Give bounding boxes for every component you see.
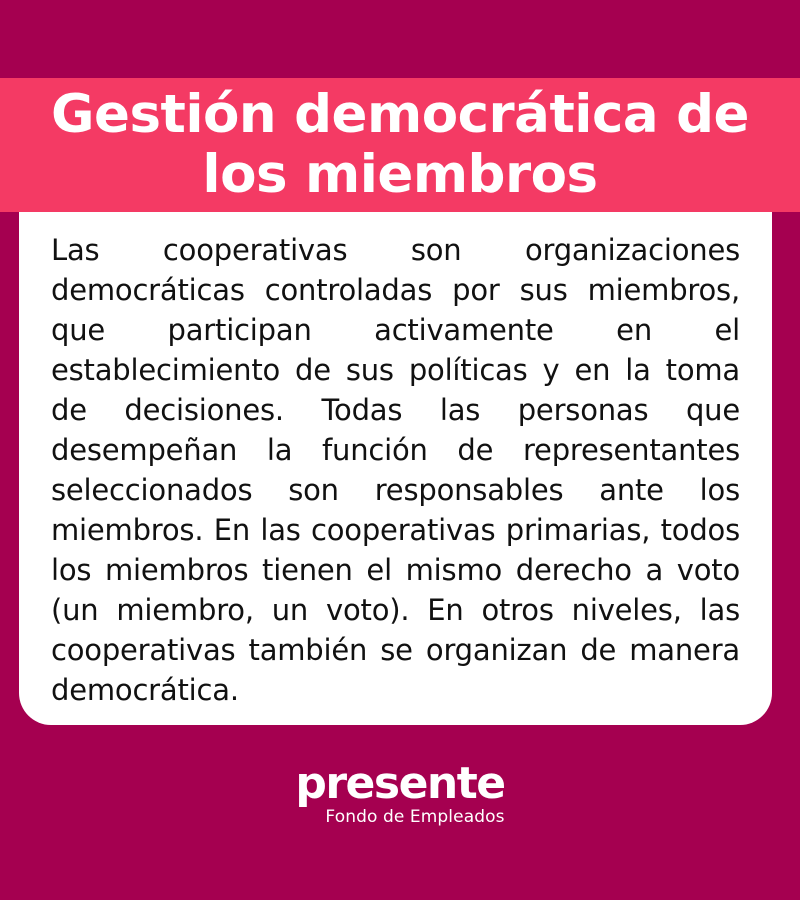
logo-wordmark: presente — [295, 762, 504, 806]
logo-tagline: Fondo de Empleados — [325, 807, 504, 827]
body-paragraph: Las cooperativas son organizaciones demo… — [51, 230, 740, 710]
brand-logo: presente Fondo de Empleados — [0, 762, 800, 827]
page-title: Gestión democrática de los miembros — [0, 85, 800, 205]
poster-root: Gestión democrática de los miembros Las … — [0, 0, 800, 900]
title-band: Gestión democrática de los miembros — [0, 78, 800, 212]
content-card: Las cooperativas son organizaciones demo… — [19, 212, 772, 725]
